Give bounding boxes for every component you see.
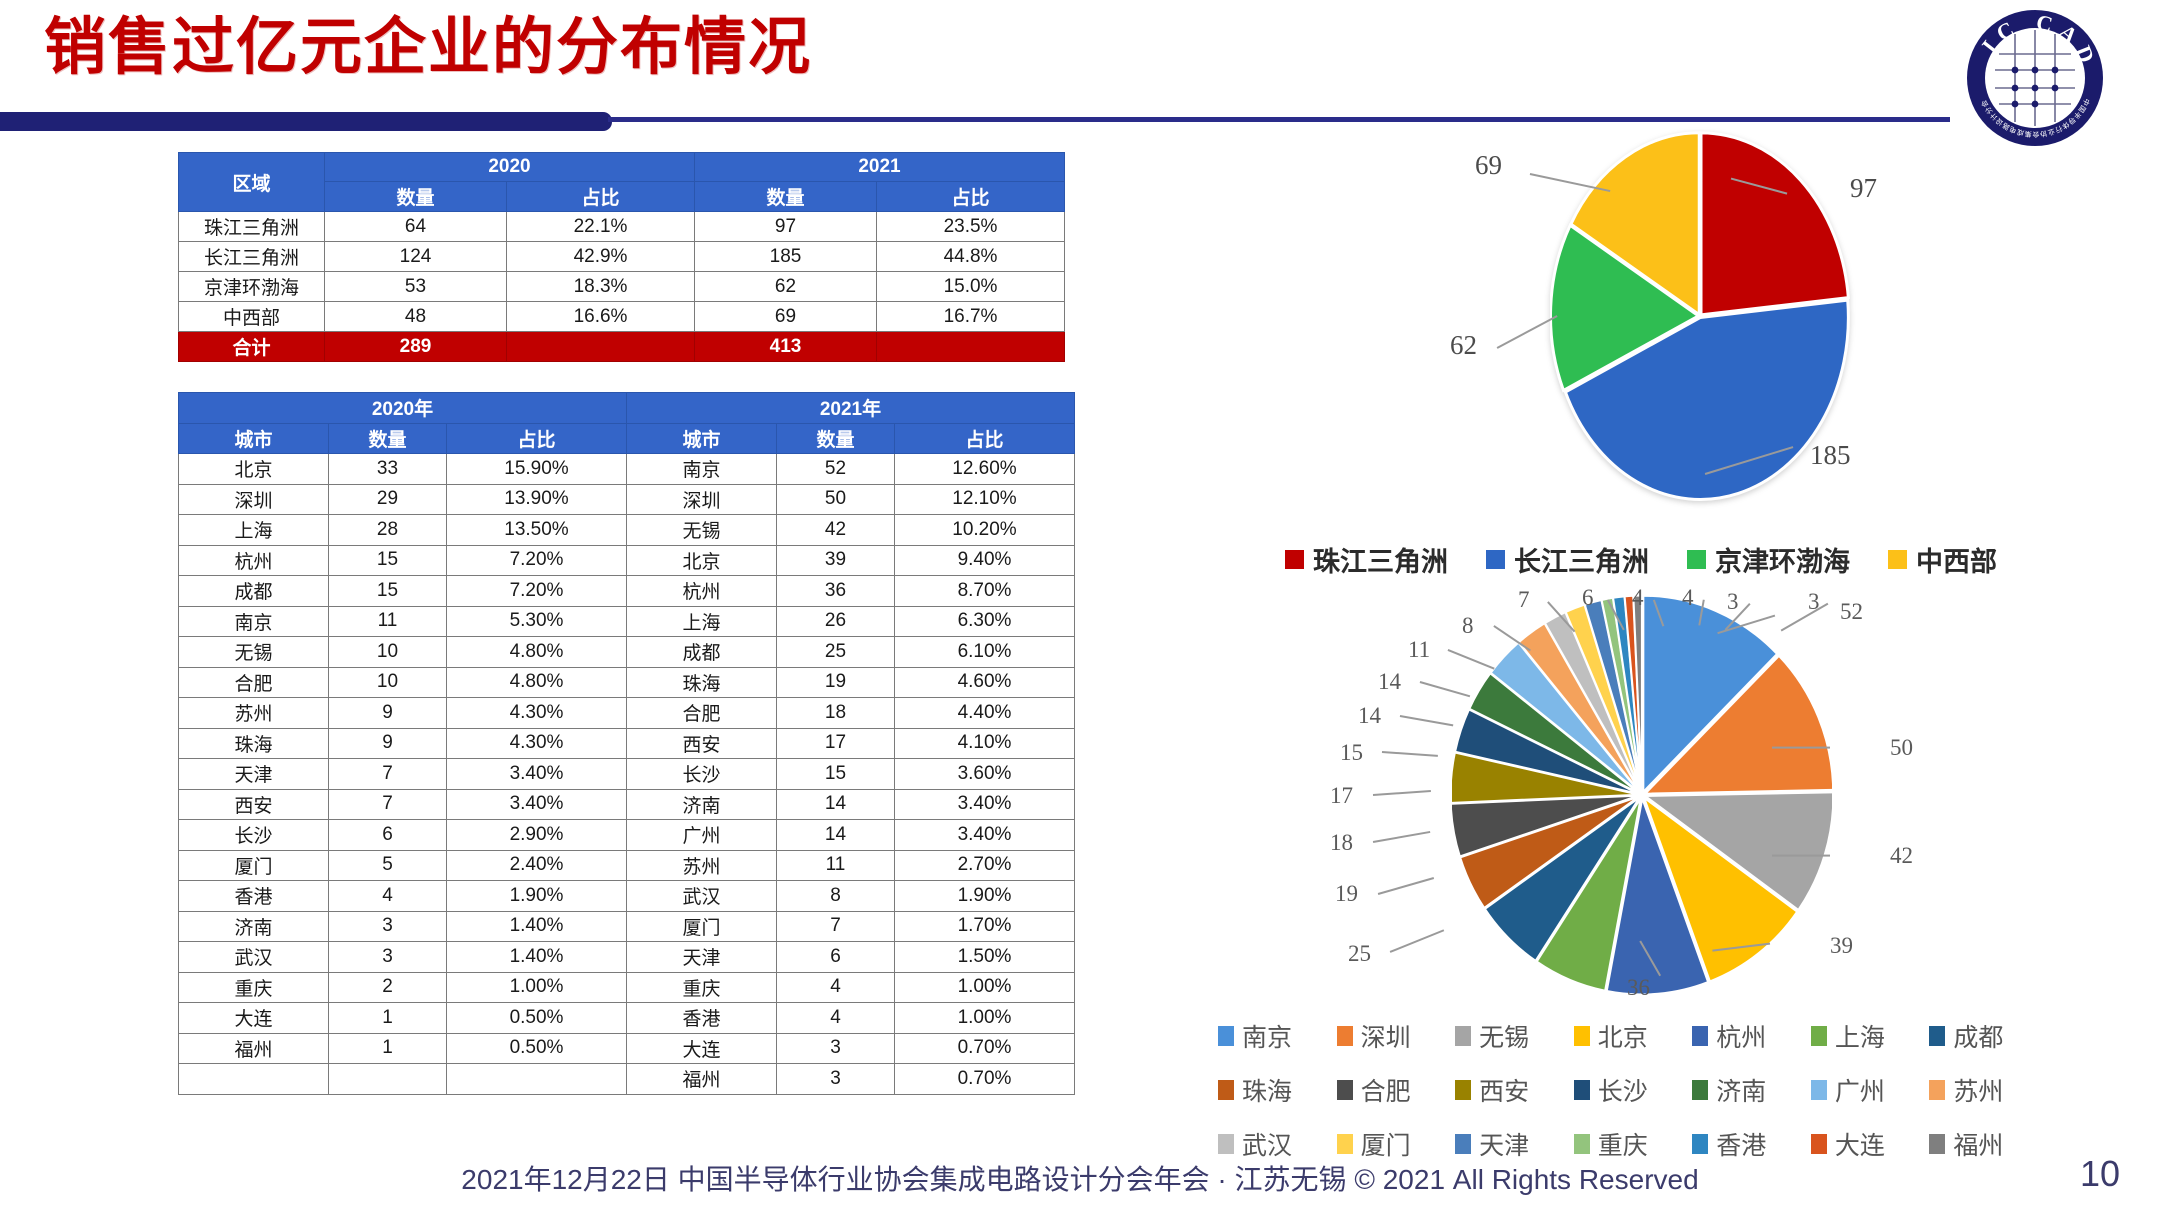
- legend-label: 天津: [1479, 1126, 1529, 1162]
- count-2020: 9: [329, 698, 447, 729]
- legend-label: 珠江三角洲: [1313, 540, 1448, 579]
- count-2021: 25: [777, 637, 895, 668]
- region-legend-item[interactable]: 京津环渤海: [1687, 540, 1850, 579]
- legend-label: 北京: [1598, 1018, 1648, 1054]
- city-2020: 香港: [179, 881, 329, 912]
- city-pie-legend: 南京深圳无锡北京杭州上海成都珠海合肥西安长沙济南广州苏州武汉厦门天津重庆香港大连…: [1218, 1018, 2048, 1162]
- city-2020: 长沙: [179, 820, 329, 851]
- share-2020: 16.6%: [507, 302, 695, 332]
- share-2020: 22.1%: [507, 212, 695, 242]
- share-2021: 3.60%: [895, 759, 1075, 790]
- pie-2-value-label: 19: [1335, 881, 1358, 907]
- share-2021: 10.20%: [895, 515, 1075, 546]
- table-row: 杭州157.20%北京399.40%: [179, 545, 1075, 576]
- count-2020: 15: [329, 576, 447, 607]
- pie-2-value-label: 50: [1890, 735, 1913, 761]
- page-title: 销售过亿元企业的分布情况: [44, 12, 812, 83]
- share-2021: 3.40%: [895, 820, 1075, 851]
- table-row: 大连10.50%香港41.00%: [179, 1003, 1075, 1034]
- legend-label: 长沙: [1598, 1072, 1648, 1108]
- city-distribution-table: 2020年 2021年 城市 数量 占比 城市 数量 占比 北京3315.90%…: [178, 392, 1075, 1095]
- count-2020: 2: [329, 972, 447, 1003]
- legend-swatch-icon: [1929, 1026, 1945, 1046]
- city-2020: 上海: [179, 515, 329, 546]
- city-2021: 合肥: [627, 698, 777, 729]
- leader-line: [1373, 790, 1431, 796]
- total-share-2020: [507, 332, 695, 362]
- header-year-2020: 2020: [325, 153, 695, 182]
- table-row: 武汉31.40%天津61.50%: [179, 942, 1075, 973]
- legend-label: 苏州: [1953, 1072, 2003, 1108]
- share-2020: 4.30%: [447, 698, 627, 729]
- count-2020: 29: [329, 484, 447, 515]
- pie-2-value-label: 14: [1378, 669, 1401, 695]
- header-share-2020: 占比: [507, 182, 695, 212]
- legend-swatch-icon: [1574, 1080, 1590, 1100]
- share-2021: 44.8%: [877, 242, 1065, 272]
- pie-1-value-label: 185: [1810, 440, 1851, 471]
- share-2020: 1.40%: [447, 942, 627, 973]
- legend-swatch-icon: [1811, 1080, 1827, 1100]
- share-2021: 1.00%: [895, 1003, 1075, 1034]
- table-row: 苏州94.30%合肥184.40%: [179, 698, 1075, 729]
- pie-2-value-label: 7: [1518, 587, 1530, 613]
- city-legend-item[interactable]: 成都: [1929, 1018, 2048, 1054]
- count-2020: 53: [325, 272, 507, 302]
- count-2021: 36: [777, 576, 895, 607]
- city-2020: 天津: [179, 759, 329, 790]
- city-legend-item[interactable]: 深圳: [1337, 1018, 1456, 1054]
- pie-1-value-label: 62: [1450, 330, 1477, 361]
- legend-label: 武汉: [1242, 1126, 1292, 1162]
- share-2020: 5.30%: [447, 606, 627, 637]
- count-2020: 64: [325, 212, 507, 242]
- city-2020: 合肥: [179, 667, 329, 698]
- legend-swatch-icon: [1337, 1026, 1353, 1046]
- share-2021: 15.0%: [877, 272, 1065, 302]
- city-2020: 大连: [179, 1003, 329, 1034]
- header-year-2021: 2021: [695, 153, 1065, 182]
- count-2020: 15: [329, 545, 447, 576]
- legend-label: 成都: [1953, 1018, 2003, 1054]
- share-2020: 2.40%: [447, 850, 627, 881]
- count-2020: 10: [329, 667, 447, 698]
- count-2020: 6: [329, 820, 447, 851]
- region-distribution-table: 区域 2020 2021 数量 占比 数量 占比 珠江三角洲6422.1%972…: [178, 152, 1065, 362]
- total-share-2021: [877, 332, 1065, 362]
- header-city-year-2020: 2020年: [179, 393, 627, 424]
- share-2020: 2.90%: [447, 820, 627, 851]
- share-2020: 42.9%: [507, 242, 695, 272]
- count-2020: 7: [329, 789, 447, 820]
- city-legend-item[interactable]: 福州: [1929, 1126, 2048, 1162]
- share-2021: 8.70%: [895, 576, 1075, 607]
- city-2020: 厦门: [179, 850, 329, 881]
- region-name: 长江三角洲: [179, 242, 325, 272]
- legend-label: 京津环渤海: [1715, 540, 1850, 579]
- table-row: 厦门52.40%苏州112.70%: [179, 850, 1075, 881]
- city-2021: 珠海: [627, 667, 777, 698]
- region-pie-legend: 珠江三角洲长江三角洲京津环渤海中西部: [1285, 540, 1997, 579]
- legend-swatch-icon: [1929, 1134, 1945, 1154]
- share-2021: 1.70%: [895, 911, 1075, 942]
- share-2021: 0.70%: [895, 1033, 1075, 1064]
- table-row: 中西部4816.6%6916.7%: [179, 302, 1065, 332]
- pie-2-value-label: 52: [1840, 599, 1863, 625]
- count-2021: 4: [777, 1003, 895, 1034]
- share-2020: 7.20%: [447, 576, 627, 607]
- count-2021: 185: [695, 242, 877, 272]
- legend-label: 合肥: [1361, 1072, 1411, 1108]
- leader-line: [1400, 715, 1453, 726]
- table-total-row: 合计289413: [179, 332, 1065, 362]
- legend-swatch-icon: [1218, 1026, 1234, 1046]
- header-count-2020: 数量: [325, 182, 507, 212]
- header-region: 区域: [179, 153, 325, 212]
- count-2021: 8: [777, 881, 895, 912]
- count-2020: 1: [329, 1003, 447, 1034]
- city-2020: 杭州: [179, 545, 329, 576]
- share-2020: 18.3%: [507, 272, 695, 302]
- count-2021: 18: [777, 698, 895, 729]
- count-2021: 14: [777, 789, 895, 820]
- city-2021: 厦门: [627, 911, 777, 942]
- share-2021: 4.10%: [895, 728, 1075, 759]
- table-row: 区域 2020 2021: [179, 153, 1065, 182]
- count-2020: 1: [329, 1033, 447, 1064]
- count-2021: 3: [777, 1033, 895, 1064]
- city-2021: 南京: [627, 454, 777, 485]
- share-2020: 15.90%: [447, 454, 627, 485]
- share-2020: 1.90%: [447, 881, 627, 912]
- legend-label: 杭州: [1716, 1018, 1766, 1054]
- count-2020: 124: [325, 242, 507, 272]
- city-2020: 济南: [179, 911, 329, 942]
- city-2021: 济南: [627, 789, 777, 820]
- leader-line: [1378, 877, 1434, 895]
- count-2021: 19: [777, 667, 895, 698]
- table-row: 北京3315.90%南京5212.60%: [179, 454, 1075, 485]
- table-row: 合肥104.80%珠海194.60%: [179, 667, 1075, 698]
- pie-2-value-label: 8: [1462, 613, 1474, 639]
- city-legend-item[interactable]: 南京: [1218, 1018, 1337, 1054]
- share-2020: 13.50%: [447, 515, 627, 546]
- count-2020: 4: [329, 881, 447, 912]
- table-row: 珠海94.30%西安174.10%: [179, 728, 1075, 759]
- city-2020: 无锡: [179, 637, 329, 668]
- leader-line: [1382, 751, 1438, 756]
- table-row: 香港41.90%武汉81.90%: [179, 881, 1075, 912]
- city-legend-item[interactable]: 武汉: [1218, 1126, 1337, 1162]
- city-legend-item[interactable]: 大连: [1811, 1126, 1930, 1162]
- total-count-2020: 289: [325, 332, 507, 362]
- share-2021: 16.7%: [877, 302, 1065, 332]
- share-2020: 4.80%: [447, 637, 627, 668]
- count-2021: 17: [777, 728, 895, 759]
- legend-swatch-icon: [1811, 1026, 1827, 1046]
- table-row: 南京115.30%上海266.30%: [179, 606, 1075, 637]
- legend-swatch-icon: [1337, 1080, 1353, 1100]
- legend-swatch-icon: [1455, 1026, 1471, 1046]
- count-2020: 3: [329, 942, 447, 973]
- legend-swatch-icon: [1486, 550, 1505, 569]
- count-2021: 50: [777, 484, 895, 515]
- header-city-2021: 城市: [627, 423, 777, 454]
- pie-slice: [1701, 133, 1848, 315]
- city-legend-item[interactable]: 西安: [1455, 1072, 1574, 1108]
- city-2021: 西安: [627, 728, 777, 759]
- leader-line: [1772, 747, 1830, 749]
- leader-line: [1497, 315, 1558, 348]
- pie-2-value-label: 18: [1330, 830, 1353, 856]
- slide-footer: 2021年12月22日 中国半导体行业协会集成电路设计分会年会 · 江苏无锡 ©…: [0, 1158, 2160, 1198]
- legend-swatch-icon: [1218, 1080, 1234, 1100]
- share-2020: 7.20%: [447, 545, 627, 576]
- city-2020: 西安: [179, 789, 329, 820]
- table-row: 深圳2913.90%深圳5012.10%: [179, 484, 1075, 515]
- legend-label: 南京: [1242, 1018, 1292, 1054]
- legend-swatch-icon: [1692, 1134, 1708, 1154]
- count-2021: 52: [777, 454, 895, 485]
- pie-2-value-label: 42: [1890, 843, 1913, 869]
- legend-label: 珠海: [1242, 1072, 1292, 1108]
- total-count-2021: 413: [695, 332, 877, 362]
- city-2020: 苏州: [179, 698, 329, 729]
- city-2021: 成都: [627, 637, 777, 668]
- legend-label: 香港: [1716, 1126, 1766, 1162]
- pie-2-value-label: 4: [1632, 585, 1644, 611]
- legend-swatch-icon: [1929, 1080, 1945, 1100]
- city-2021: 重庆: [627, 972, 777, 1003]
- share-2020: 1.40%: [447, 911, 627, 942]
- count-2020: 11: [329, 606, 447, 637]
- legend-label: 无锡: [1479, 1018, 1529, 1054]
- city-legend-item[interactable]: 厦门: [1337, 1126, 1456, 1162]
- count-2021: 14: [777, 820, 895, 851]
- city-legend-item[interactable]: 重庆: [1574, 1126, 1693, 1162]
- city-2020: 南京: [179, 606, 329, 637]
- share-2020: 4.30%: [447, 728, 627, 759]
- share-2021: 0.70%: [895, 1064, 1075, 1095]
- pie-1-value-label: 97: [1850, 173, 1877, 204]
- city-legend-item[interactable]: 北京: [1574, 1018, 1693, 1054]
- region-name: 珠江三角洲: [179, 212, 325, 242]
- city-2021: 苏州: [627, 850, 777, 881]
- city-legend-item[interactable]: 香港: [1692, 1126, 1811, 1162]
- count-2021: 97: [695, 212, 877, 242]
- pie-2-canvas: [1452, 595, 1832, 995]
- count-2020: 10: [329, 637, 447, 668]
- city-2021: 大连: [627, 1033, 777, 1064]
- table-row: 长沙62.90%广州143.40%: [179, 820, 1075, 851]
- city-2020: 重庆: [179, 972, 329, 1003]
- city-2021: 无锡: [627, 515, 777, 546]
- legend-label: 广州: [1835, 1072, 1885, 1108]
- city-legend-item[interactable]: 无锡: [1455, 1018, 1574, 1054]
- legend-label: 上海: [1835, 1018, 1885, 1054]
- city-pie-chart: 525042393625191817151414118764433: [1230, 575, 2060, 1025]
- city-legend-item[interactable]: 天津: [1455, 1126, 1574, 1162]
- legend-label: 深圳: [1361, 1018, 1411, 1054]
- share-2021: 12.10%: [895, 484, 1075, 515]
- share-2020: 3.40%: [447, 759, 627, 790]
- table-row: 天津73.40%长沙153.60%: [179, 759, 1075, 790]
- region-legend-item[interactable]: 长江三角洲: [1486, 540, 1649, 579]
- legend-label: 大连: [1835, 1126, 1885, 1162]
- pie-2-value-label: 6: [1582, 585, 1594, 611]
- legend-swatch-icon: [1455, 1134, 1471, 1154]
- legend-swatch-icon: [1888, 550, 1907, 569]
- header-count-2021: 数量: [695, 182, 877, 212]
- total-label: 合计: [179, 332, 325, 362]
- legend-swatch-icon: [1285, 550, 1304, 569]
- city-2020: 深圳: [179, 484, 329, 515]
- table-row: 无锡104.80%成都256.10%: [179, 637, 1075, 668]
- pie-2-value-label: 3: [1727, 589, 1739, 615]
- legend-label: 厦门: [1361, 1126, 1411, 1162]
- city-legend-item[interactable]: 长沙: [1574, 1072, 1693, 1108]
- region-name: 中西部: [179, 302, 325, 332]
- city-2020: 珠海: [179, 728, 329, 759]
- table-row: 西安73.40%济南143.40%: [179, 789, 1075, 820]
- city-legend-item[interactable]: 珠海: [1218, 1072, 1337, 1108]
- header-city-2020: 城市: [179, 423, 329, 454]
- header-count-2020: 数量: [329, 423, 447, 454]
- count-2021: 42: [777, 515, 895, 546]
- region-legend-item[interactable]: 中西部: [1888, 540, 1997, 579]
- count-2020: 9: [329, 728, 447, 759]
- share-2021: 12.60%: [895, 454, 1075, 485]
- share-2020: 3.40%: [447, 789, 627, 820]
- city-2020: 福州: [179, 1033, 329, 1064]
- share-2021: 6.10%: [895, 637, 1075, 668]
- pie-2-value-label: 36: [1627, 975, 1650, 1001]
- table-row: 福州10.50%大连30.70%: [179, 1033, 1075, 1064]
- count-2020: 33: [329, 454, 447, 485]
- share-2020: 13.90%: [447, 484, 627, 515]
- city-legend-item[interactable]: 苏州: [1929, 1072, 2048, 1108]
- share-2021: 9.40%: [895, 545, 1075, 576]
- pie-2-value-label: 11: [1408, 637, 1430, 663]
- leader-line: [1373, 831, 1430, 843]
- city-2021: 北京: [627, 545, 777, 576]
- page-number: 10: [2080, 1153, 2120, 1195]
- count-2021: 15: [777, 759, 895, 790]
- count-2020: 5: [329, 850, 447, 881]
- legend-label: 福州: [1953, 1126, 2003, 1162]
- city-legend-item[interactable]: 杭州: [1692, 1018, 1811, 1054]
- count-2021: 7: [777, 911, 895, 942]
- city-2021: 深圳: [627, 484, 777, 515]
- city-2021: 长沙: [627, 759, 777, 790]
- region-legend-item[interactable]: 珠江三角洲: [1285, 540, 1448, 579]
- pie-1-value-label: 69: [1475, 150, 1502, 181]
- share-2020: 4.80%: [447, 667, 627, 698]
- count-2020: 28: [329, 515, 447, 546]
- table-row: 长江三角洲12442.9%18544.8%: [179, 242, 1065, 272]
- header-share-2020: 占比: [447, 423, 627, 454]
- count-2021: 69: [695, 302, 877, 332]
- count-2021: 39: [777, 545, 895, 576]
- legend-swatch-icon: [1692, 1080, 1708, 1100]
- share-2021: 3.40%: [895, 789, 1075, 820]
- city-2021: 福州: [627, 1064, 777, 1095]
- count-2020: 7: [329, 759, 447, 790]
- slide-canvas: 销售过亿元企业的分布情况: [0, 0, 2160, 1216]
- count-2021: 26: [777, 606, 895, 637]
- city-2021: 广州: [627, 820, 777, 851]
- pie-2-value-label: 4: [1682, 585, 1694, 611]
- pie-2-value-label: 39: [1830, 933, 1853, 959]
- city-2020: [179, 1064, 329, 1095]
- table-row: 福州30.70%: [179, 1064, 1075, 1095]
- share-2021: 4.40%: [895, 698, 1075, 729]
- count-2021: 4: [777, 972, 895, 1003]
- city-2020: 武汉: [179, 942, 329, 973]
- share-2021: 4.60%: [895, 667, 1075, 698]
- city-2021: 杭州: [627, 576, 777, 607]
- table-row: 2020年 2021年: [179, 393, 1075, 424]
- city-legend-item[interactable]: 合肥: [1337, 1072, 1456, 1108]
- legend-label: 济南: [1716, 1072, 1766, 1108]
- legend-swatch-icon: [1218, 1134, 1234, 1154]
- region-name: 京津环渤海: [179, 272, 325, 302]
- table-row: 济南31.40%厦门71.70%: [179, 911, 1075, 942]
- share-2020: 0.50%: [447, 1033, 627, 1064]
- title-divider-line: [608, 117, 1950, 122]
- share-2021: 2.70%: [895, 850, 1075, 881]
- city-legend-item[interactable]: 济南: [1692, 1072, 1811, 1108]
- pie-2-value-label: 14: [1358, 703, 1381, 729]
- city-2020: 北京: [179, 454, 329, 485]
- legend-swatch-icon: [1692, 1026, 1708, 1046]
- header-share-2021: 占比: [895, 423, 1075, 454]
- city-2021: 香港: [627, 1003, 777, 1034]
- legend-swatch-icon: [1574, 1134, 1590, 1154]
- city-legend-item[interactable]: 广州: [1811, 1072, 1930, 1108]
- table-row: 重庆21.00%重庆41.00%: [179, 972, 1075, 1003]
- count-2020: 48: [325, 302, 507, 332]
- table-row: 成都157.20%杭州368.70%: [179, 576, 1075, 607]
- share-2020: 0.50%: [447, 1003, 627, 1034]
- share-2021: 6.30%: [895, 606, 1075, 637]
- city-2021: 武汉: [627, 881, 777, 912]
- header-city-year-2021: 2021年: [627, 393, 1075, 424]
- legend-swatch-icon: [1574, 1026, 1590, 1046]
- count-2020: 3: [329, 911, 447, 942]
- legend-label: 西安: [1479, 1072, 1529, 1108]
- pie-2-value-label: 15: [1340, 740, 1363, 766]
- region-pie-chart: 971856269: [1275, 125, 2065, 525]
- legend-label: 中西部: [1916, 540, 1997, 579]
- count-2021: 62: [695, 272, 877, 302]
- legend-swatch-icon: [1687, 550, 1706, 569]
- table-row: 城市 数量 占比 城市 数量 占比: [179, 423, 1075, 454]
- legend-swatch-icon: [1811, 1134, 1827, 1154]
- title-divider-bar: [0, 112, 612, 131]
- city-legend-item[interactable]: 上海: [1811, 1018, 1930, 1054]
- share-2021: 1.00%: [895, 972, 1075, 1003]
- leader-line: [1772, 855, 1830, 857]
- pie-2-value-label: 25: [1348, 941, 1371, 967]
- legend-swatch-icon: [1337, 1134, 1353, 1154]
- share-2021: 1.90%: [895, 881, 1075, 912]
- leader-line: [1390, 929, 1444, 952]
- legend-label: 长江三角洲: [1514, 540, 1649, 579]
- count-2020: [329, 1064, 447, 1095]
- city-2021: 天津: [627, 942, 777, 973]
- table-row: 上海2813.50%无锡4210.20%: [179, 515, 1075, 546]
